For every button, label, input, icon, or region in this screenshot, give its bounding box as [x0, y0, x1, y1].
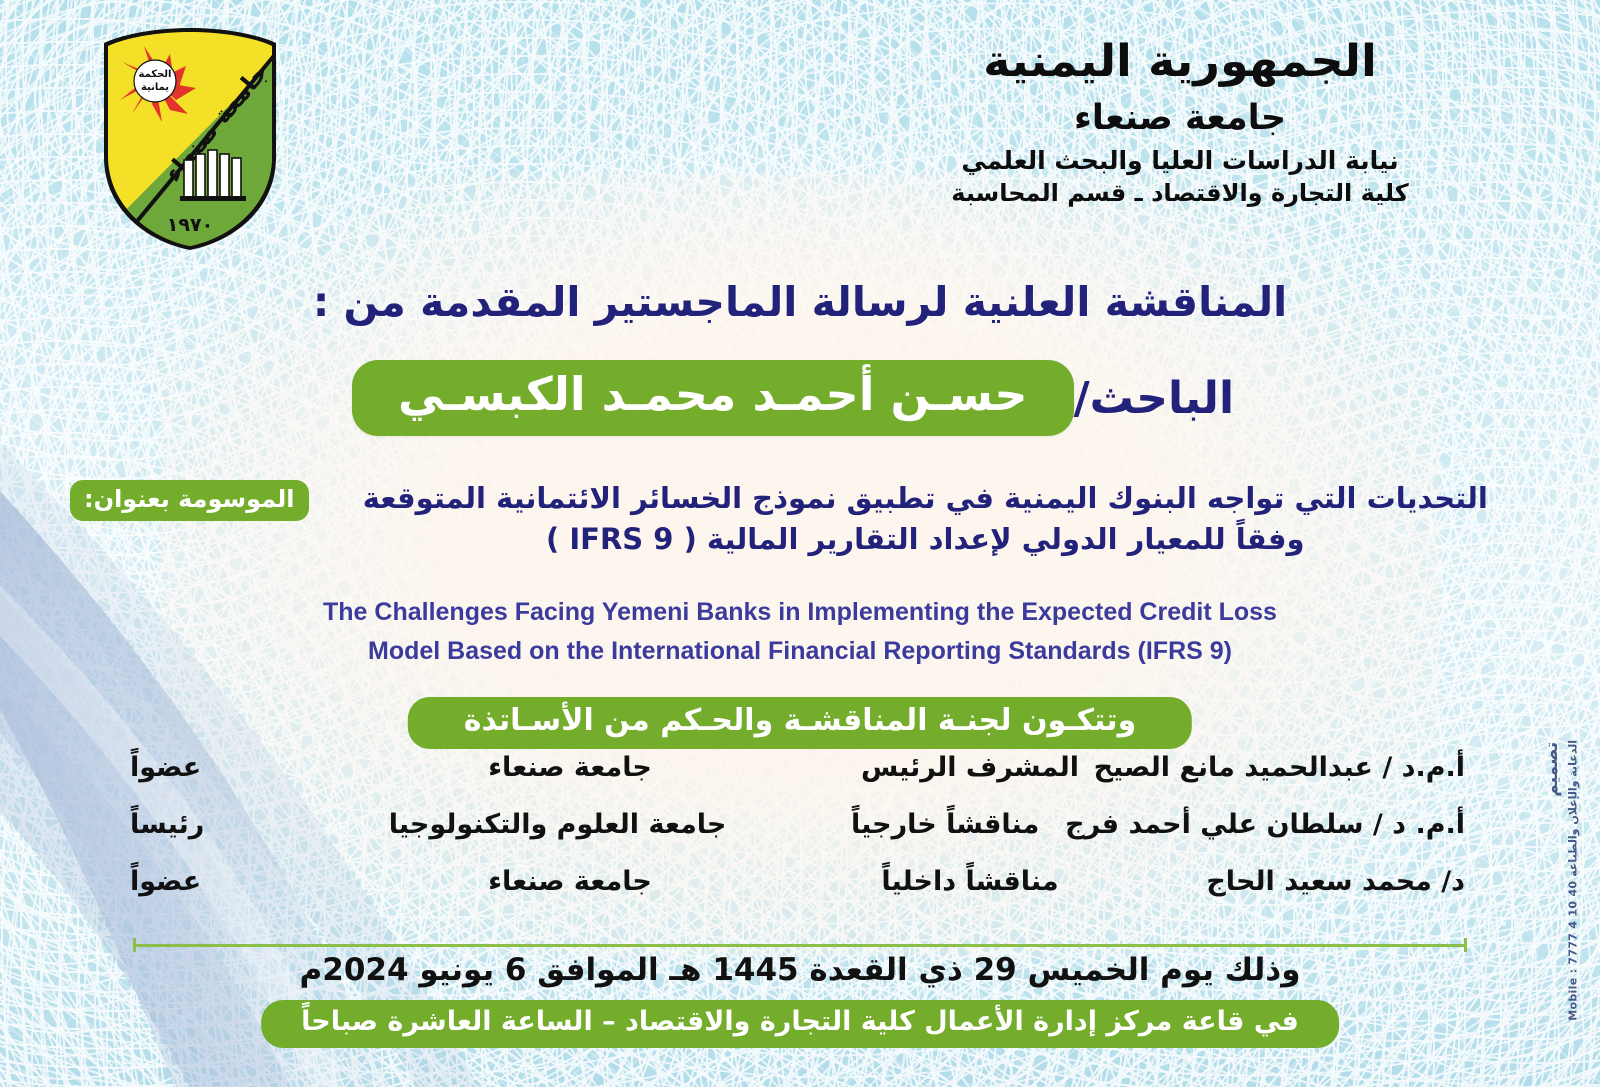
- member-affiliation: جامعة صنعاء: [290, 752, 850, 783]
- republic-title: الجمهورية اليمنية: [781, 40, 1579, 84]
- thesis-title-english: The Challenges Facing Yemeni Banks in Im…: [0, 593, 1600, 671]
- member-role: مناقشاً خارجياً: [825, 809, 1065, 840]
- designer-credit: تصميم الدعاية والإعلان والطباعة Mobile :…: [1540, 740, 1582, 1021]
- svg-text:يمانية: يمانية: [141, 82, 169, 93]
- designer-mobile: Mobile : 7777 4 10 40: [1567, 881, 1580, 1021]
- thesis-title-ar-line1: التحديات التي تواجه البنوك اليمنية في تط…: [321, 478, 1530, 519]
- university-name: جامعة صنعاء: [800, 98, 1560, 138]
- designer-line: الدعاية والإعلان والطباعة: [1567, 740, 1580, 877]
- committee-list: أ.م.د / عبدالحميد مانع الصيح المشرف الرئ…: [130, 752, 1465, 923]
- member-affiliation: جامعة العلوم والتكنولوجيا: [290, 809, 825, 840]
- faculty-line: كلية التجارة والاقتصاد ـ قسم المحاسبة: [800, 179, 1560, 207]
- member-name: أ.م. د / سلطان علي أحمد فرج: [1065, 809, 1465, 840]
- member-name: د/ محمد سعيد الحاج: [1090, 866, 1465, 897]
- svg-text:الحكمة: الحكمة: [139, 69, 172, 80]
- member-status: رئيساً: [130, 809, 290, 840]
- researcher-label: الباحث/: [1074, 373, 1234, 424]
- member-status: عضواً: [130, 752, 290, 783]
- thesis-title-row: التحديات التي تواجه البنوك اليمنية في تط…: [0, 478, 1600, 560]
- table-row: أ.م.د / عبدالحميد مانع الصيح المشرف الرئ…: [130, 752, 1465, 809]
- researcher-name-chip: حسـن أحمـد محمـد الكبسـي: [352, 360, 1074, 436]
- committee-banner: وتتكـون لجنـة المناقشـة والحـكم من الأسـ…: [408, 697, 1192, 749]
- poster-canvas: الحكمة يمانية جامعة صنعاء ١٩٧٠ الجمهورية…: [0, 0, 1600, 1087]
- divider-line: [133, 944, 1467, 947]
- section-divider: [133, 938, 1467, 952]
- event-date: وذلك يوم الخميس 29 ذي القعدة 1445 هـ الم…: [0, 952, 1600, 988]
- deanship-line: نيابة الدراسات العليا والبحث العلمي: [800, 146, 1560, 175]
- member-role: مناقشاً داخلياً: [850, 866, 1090, 897]
- table-row: أ.م. د / سلطان علي أحمد فرج مناقشاً خارج…: [130, 809, 1465, 866]
- divider-cap-right: [1464, 938, 1467, 952]
- member-role: المشرف الرئيس: [850, 752, 1090, 783]
- table-row: د/ محمد سعيد الحاج مناقشاً داخلياً جامعة…: [130, 866, 1465, 923]
- titled-as-badge: الموسومة بعنوان:: [70, 480, 309, 521]
- researcher-row: الباحث/ حسـن أحمـد محمـد الكبسـي: [0, 352, 1600, 444]
- page-title: المناقشة العلنية لرسالة الماجستير المقدم…: [0, 278, 1600, 326]
- thesis-title-en-line2: Model Based on the International Financi…: [0, 632, 1600, 671]
- member-affiliation: جامعة صنعاء: [290, 866, 850, 897]
- member-name: أ.م.د / عبدالحميد مانع الصيح: [1090, 752, 1465, 783]
- sanaa-university-logo: الحكمة يمانية جامعة صنعاء ١٩٧٠: [100, 26, 280, 251]
- event-venue: في قاعة مركز إدارة الأعمال كلية التجارة …: [261, 1000, 1339, 1048]
- thesis-title-ar-line2: وفقاً للمعيار الدولي لإعداد التقارير الم…: [321, 519, 1530, 560]
- thesis-title-en-line1: The Challenges Facing Yemeni Banks in Im…: [0, 593, 1600, 632]
- header-block: الجمهورية اليمنية جامعة صنعاء نيابة الدر…: [800, 40, 1560, 207]
- svg-text:١٩٧٠: ١٩٧٠: [167, 214, 213, 236]
- thesis-title-arabic: التحديات التي تواجه البنوك اليمنية في تط…: [321, 478, 1530, 560]
- designer-signature: تصميم: [1540, 742, 1566, 1021]
- member-status: عضواً: [130, 866, 290, 897]
